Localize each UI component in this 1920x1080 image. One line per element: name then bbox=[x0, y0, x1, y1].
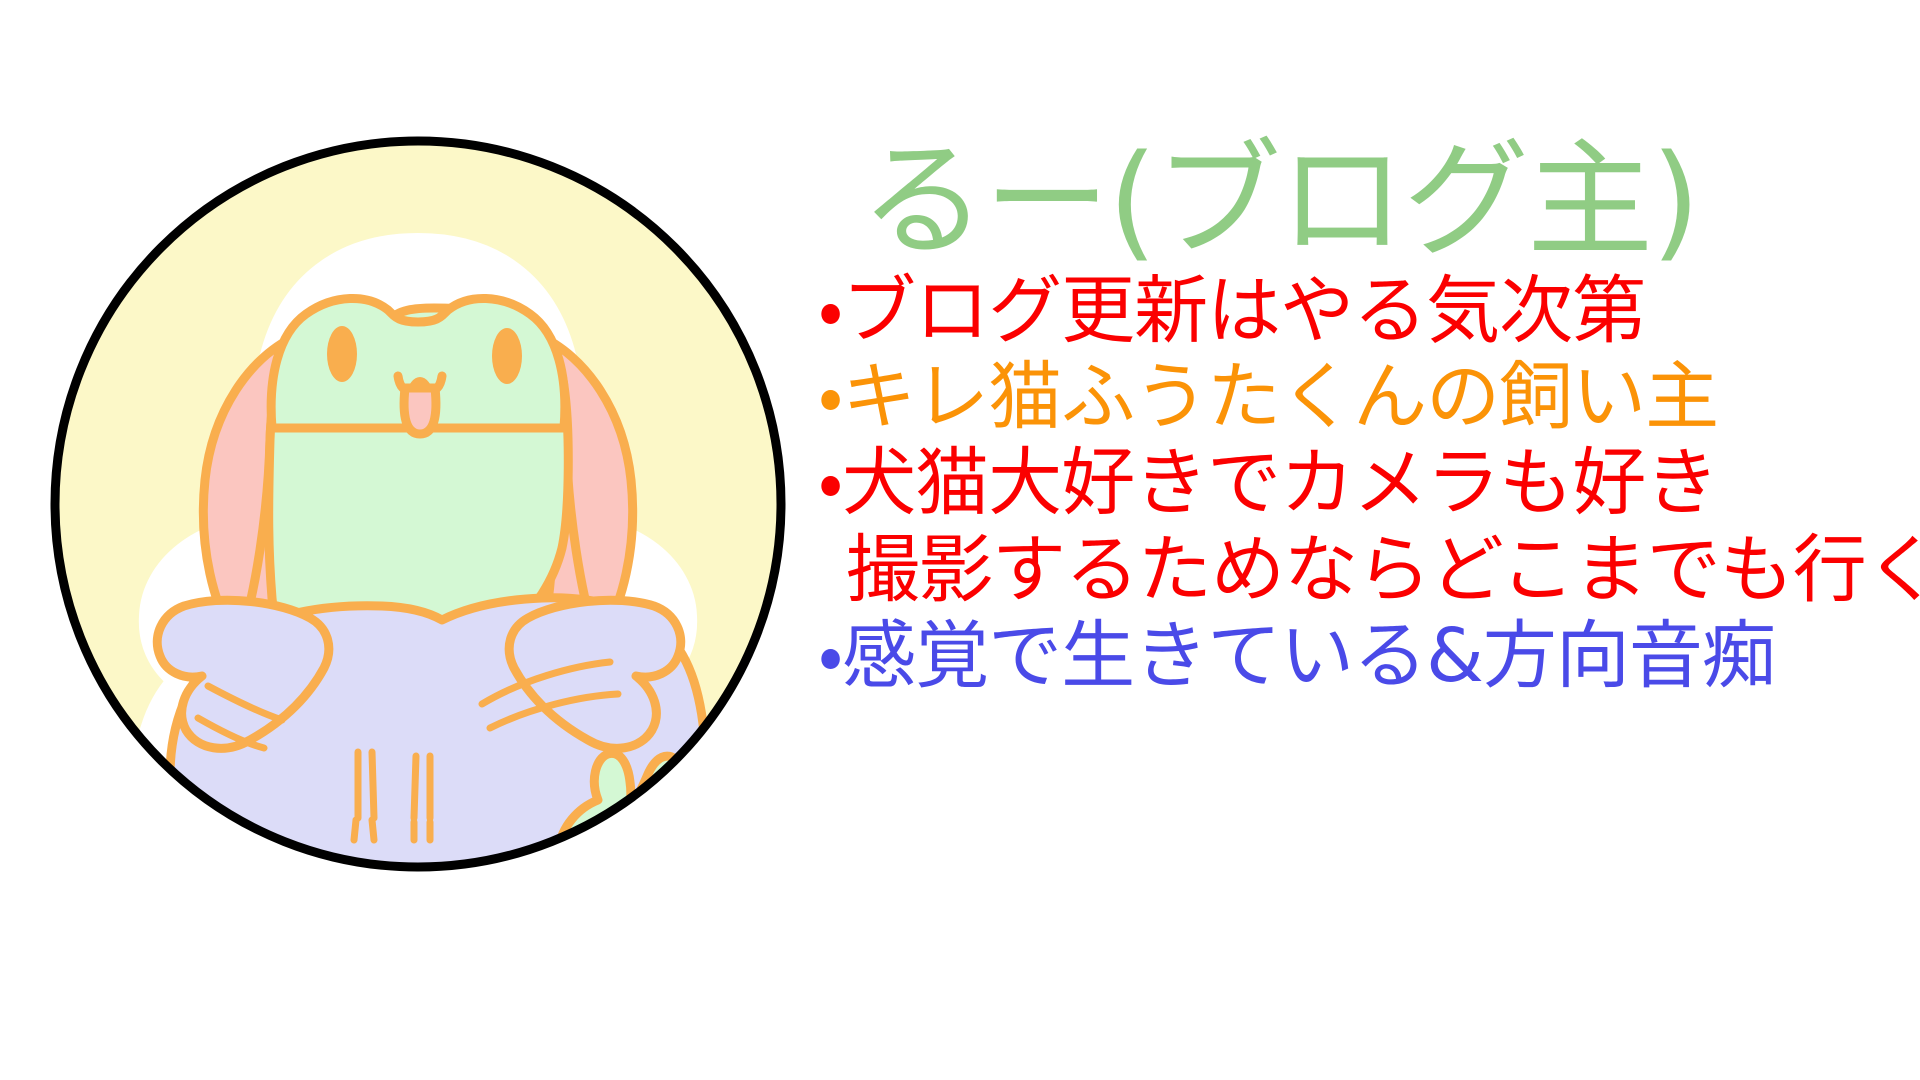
bullet-marker: ・ bbox=[818, 268, 842, 354]
frog-tongue bbox=[404, 388, 436, 434]
profile-text-block: るー(ブログ主) ・ブログ更新はやる気次第 ・キレ猫ふうたくんの飼い主 ・犬猫大… bbox=[818, 138, 1898, 699]
bullet-text: 犬猫大好きでカメラも好き bbox=[842, 440, 1718, 526]
frog-eye-right bbox=[492, 328, 522, 384]
list-item: ・ブログ更新はやる気次第 bbox=[818, 268, 1898, 354]
bullet-text: 感覚で生きている&方向音痴 bbox=[842, 613, 1775, 699]
bullet-text: キレ猫ふうたくんの飼い主 bbox=[842, 354, 1718, 440]
bullet-text: 撮影するためならどこまでも行く bbox=[846, 527, 1920, 613]
bullet-marker: ・ bbox=[818, 440, 842, 526]
profile-bullet-list: ・ブログ更新はやる気次第 ・キレ猫ふうたくんの飼い主 ・犬猫大好きでカメラも好き… bbox=[818, 268, 1898, 699]
list-item-continuation: 撮影するためならどこまでも行く bbox=[818, 527, 1898, 613]
frog-eye-left bbox=[327, 326, 357, 382]
bullet-marker: ・ bbox=[818, 354, 842, 440]
profile-card: るー(ブログ主) ・ブログ更新はやる気次第 ・キレ猫ふうたくんの飼い主 ・犬猫大… bbox=[0, 0, 1920, 1080]
list-item: ・感覚で生きている&方向音痴 bbox=[818, 613, 1898, 699]
page-title: るー(ブログ主) bbox=[860, 138, 1898, 264]
bullet-text: ブログ更新はやる気次第 bbox=[842, 268, 1645, 354]
bullet-marker: ・ bbox=[818, 613, 842, 699]
list-item: ・キレ猫ふうたくんの飼い主 bbox=[818, 354, 1898, 440]
avatar bbox=[42, 128, 794, 880]
list-item: ・犬猫大好きでカメラも好き bbox=[818, 440, 1898, 526]
avatar-illustration bbox=[42, 128, 794, 880]
